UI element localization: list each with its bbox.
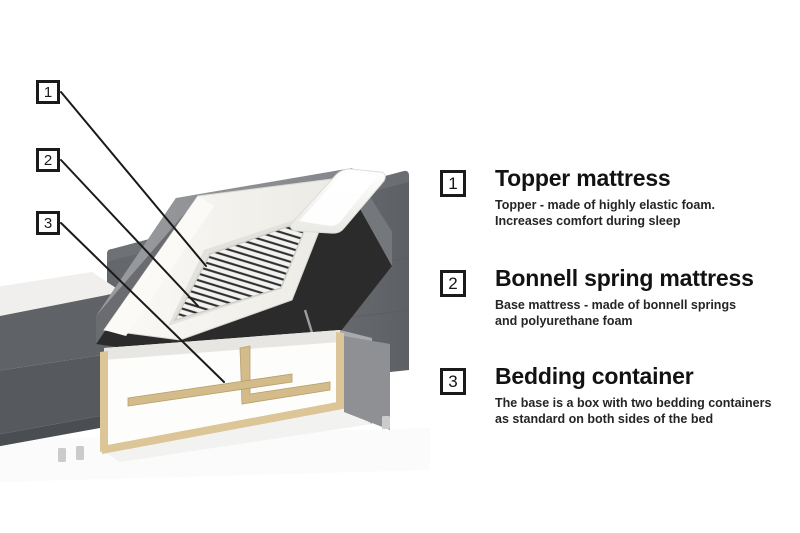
legend-panel: 1 Topper mattress Topper - made of highl… bbox=[438, 0, 800, 533]
legend-description-2-line1: Base mattress - made of bonnell springs bbox=[495, 297, 800, 314]
callout-marker-3[interactable]: 3 bbox=[36, 211, 60, 235]
legend-description-2-line2: and polyurethane foam bbox=[495, 313, 800, 330]
legend-title-2: Bonnell spring mattress bbox=[495, 266, 800, 292]
legend-item-topper-mattress: 1 Topper mattress Topper - made of highl… bbox=[438, 166, 800, 230]
legend-item-bonnell-spring-mattress: 2 Bonnell spring mattress Base mattress … bbox=[438, 266, 800, 330]
legend-description-1-line1: Topper - made of highly elastic foam. bbox=[495, 197, 800, 214]
legend-title-1: Topper mattress bbox=[495, 166, 800, 192]
legend-badge-1: 1 bbox=[440, 170, 466, 197]
legend-badge-2: 2 bbox=[440, 270, 466, 297]
legend-description-3-line1: The base is a box with two bedding conta… bbox=[495, 395, 800, 412]
legend-description-3: The base is a box with two bedding conta… bbox=[495, 395, 800, 428]
legend-item-bedding-container: 3 Bedding container The base is a box wi… bbox=[438, 364, 800, 428]
callout-marker-2[interactable]: 2 bbox=[36, 148, 60, 172]
legend-title-3: Bedding container bbox=[495, 364, 800, 390]
infographic-root: 1 2 3 1 Topper mattress Topper - made of… bbox=[0, 0, 800, 533]
callout-marker-1[interactable]: 1 bbox=[36, 80, 60, 104]
legend-description-2: Base mattress - made of bonnell springs … bbox=[495, 297, 800, 330]
legend-description-3-line2: as standard on both sides of the bed bbox=[495, 411, 800, 428]
legend-badge-3: 3 bbox=[440, 368, 466, 395]
bed-cutaway-diagram bbox=[0, 0, 430, 533]
bed-illustration: 1 2 3 bbox=[0, 0, 430, 533]
legend-description-1: Topper - made of highly elastic foam. In… bbox=[495, 197, 800, 230]
container-left-ply-edge bbox=[100, 351, 108, 452]
legend-description-1-line2: Increases comfort during sleep bbox=[495, 213, 800, 230]
